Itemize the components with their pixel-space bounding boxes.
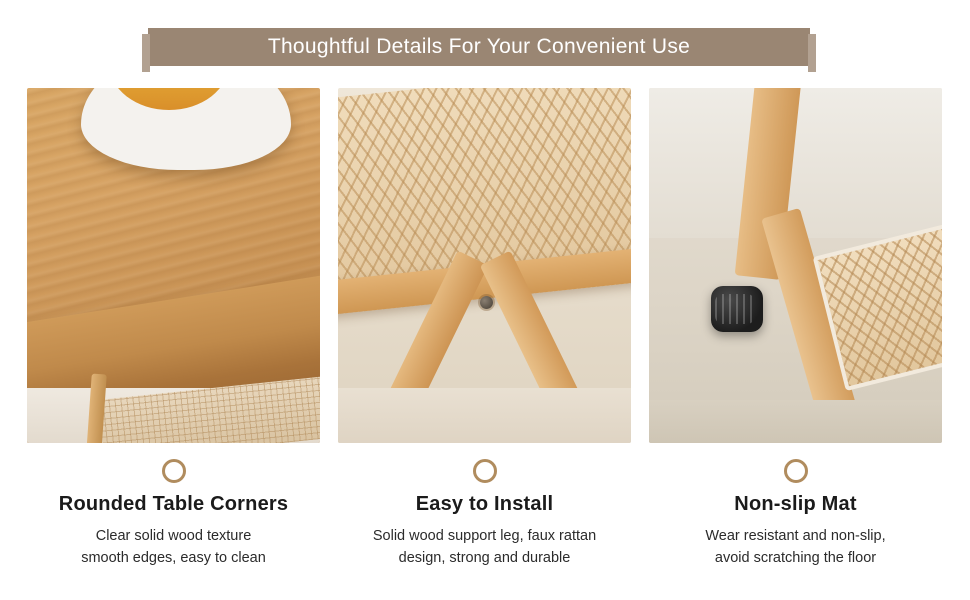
card-description-line-1: Clear solid wood texture xyxy=(27,525,320,547)
feature-card-row: Rounded Table Corners Clear solid wood t… xyxy=(27,88,943,569)
feature-card-easy-install: Easy to Install Solid wood support leg, … xyxy=(338,88,631,569)
product-feature-page: Thoughtful Details For Your Convenient U… xyxy=(0,0,970,600)
cross-support-leg-photo xyxy=(338,88,631,443)
card-title: Rounded Table Corners xyxy=(27,493,320,516)
rounded-table-corner-photo xyxy=(27,88,320,443)
foot-pad-grooves xyxy=(715,294,755,324)
header-banner: Thoughtful Details For Your Convenient U… xyxy=(148,28,810,66)
non-slip-foot-photo xyxy=(649,88,942,443)
card-description-line-2: smooth edges, easy to clean xyxy=(27,547,320,569)
page-title: Thoughtful Details For Your Convenient U… xyxy=(148,28,810,66)
card-description-line-1: Wear resistant and non-slip, xyxy=(649,525,942,547)
card-description-line-2: design, strong and durable xyxy=(338,547,631,569)
circle-bullet-icon xyxy=(473,459,497,483)
caption-block: Rounded Table Corners Clear solid wood t… xyxy=(27,459,320,569)
caption-block: Non-slip Mat Wear resistant and non-slip… xyxy=(649,459,942,569)
feature-card-non-slip: Non-slip Mat Wear resistant and non-slip… xyxy=(649,88,942,569)
header-banner-bar: Thoughtful Details For Your Convenient U… xyxy=(148,28,810,66)
card-description-line-1: Solid wood support leg, faux rattan xyxy=(338,525,631,547)
feature-card-rounded-corners: Rounded Table Corners Clear solid wood t… xyxy=(27,88,320,569)
background-floor xyxy=(649,400,942,443)
circle-bullet-icon xyxy=(784,459,808,483)
screw-icon xyxy=(480,296,493,309)
card-title: Non-slip Mat xyxy=(649,493,942,516)
circle-bullet-icon xyxy=(162,459,186,483)
background-floor xyxy=(338,388,631,443)
card-description-line-2: avoid scratching the floor xyxy=(649,547,942,569)
caption-block: Easy to Install Solid wood support leg, … xyxy=(338,459,631,569)
card-title: Easy to Install xyxy=(338,493,631,516)
